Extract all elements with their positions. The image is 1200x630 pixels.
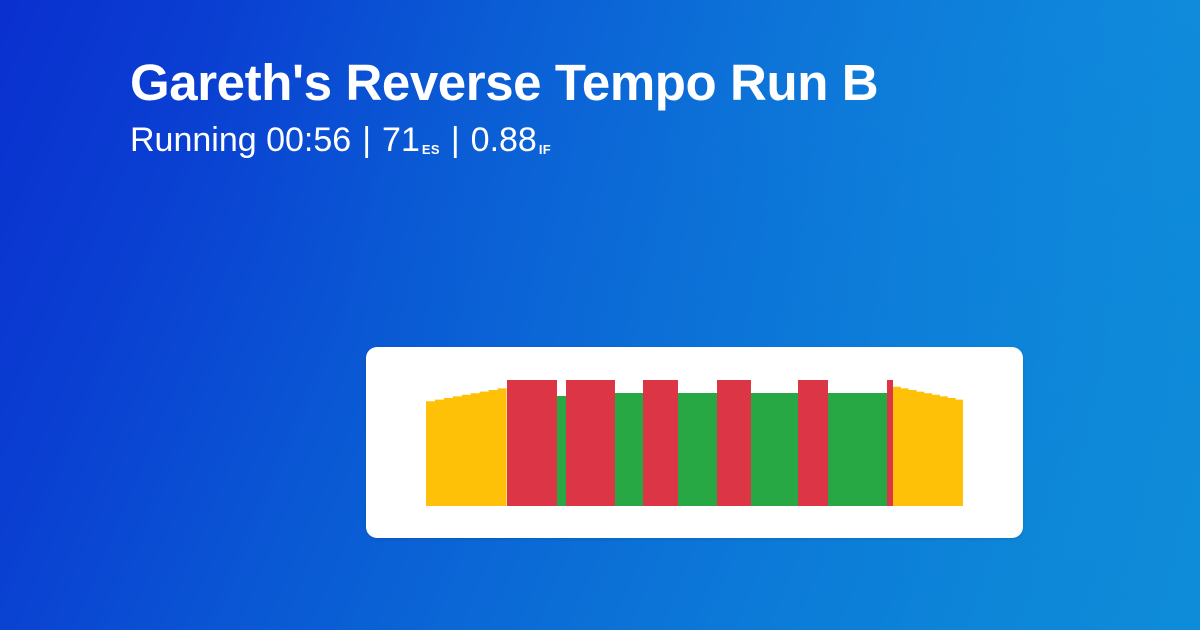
page-title: Gareth's Reverse Tempo Run B — [130, 52, 1090, 114]
workout-interval-bar-fill — [557, 396, 566, 506]
metric-es-unit: ES — [422, 142, 440, 158]
metric-if-unit: IF — [539, 142, 551, 158]
workout-interval-bar-fill — [615, 393, 642, 506]
summary-separator-1: | — [351, 120, 382, 161]
activity-type: Running — [130, 120, 257, 161]
workout-interval-bar — [557, 375, 566, 506]
workout-chart-plot — [426, 375, 963, 506]
workout-interval-bar — [751, 375, 799, 506]
workout-share-card: Gareth's Reverse Tempo Run B Running 00:… — [0, 0, 1200, 630]
summary-separator-2: | — [440, 120, 471, 161]
workout-interval-bar — [798, 375, 828, 506]
metric-es-value: 71 — [382, 120, 420, 161]
workout-interval-bar-fill — [717, 380, 751, 506]
workout-interval-bar-fill — [566, 380, 615, 506]
workout-interval-bar — [678, 375, 716, 506]
workout-interval-bar-fill — [751, 393, 799, 506]
workout-interval-bar-fill — [798, 380, 828, 506]
workout-interval-bar — [426, 375, 507, 506]
workout-interval-bar — [828, 375, 887, 506]
workout-interval-bar-fill — [507, 380, 557, 506]
workout-interval-bar — [615, 375, 642, 506]
header: Gareth's Reverse Tempo Run B Running 00:… — [130, 52, 1090, 161]
workout-summary: Running 00:56 | 71ES | 0.88IF — [130, 120, 1090, 161]
workout-interval-bar — [893, 375, 963, 506]
workout-interval-bar — [566, 375, 615, 506]
workout-interval-bars — [426, 375, 963, 506]
metric-if-value: 0.88 — [471, 120, 537, 161]
workout-interval-bar — [643, 375, 679, 506]
workout-interval-bar — [507, 375, 557, 506]
workout-interval-bar-fill — [678, 393, 716, 506]
workout-interval-bar-fill — [643, 380, 679, 506]
workout-interval-bar — [717, 375, 751, 506]
workout-duration: 00:56 — [266, 120, 351, 161]
workout-chart-card — [366, 347, 1023, 538]
workout-interval-bar-fill — [828, 393, 887, 506]
